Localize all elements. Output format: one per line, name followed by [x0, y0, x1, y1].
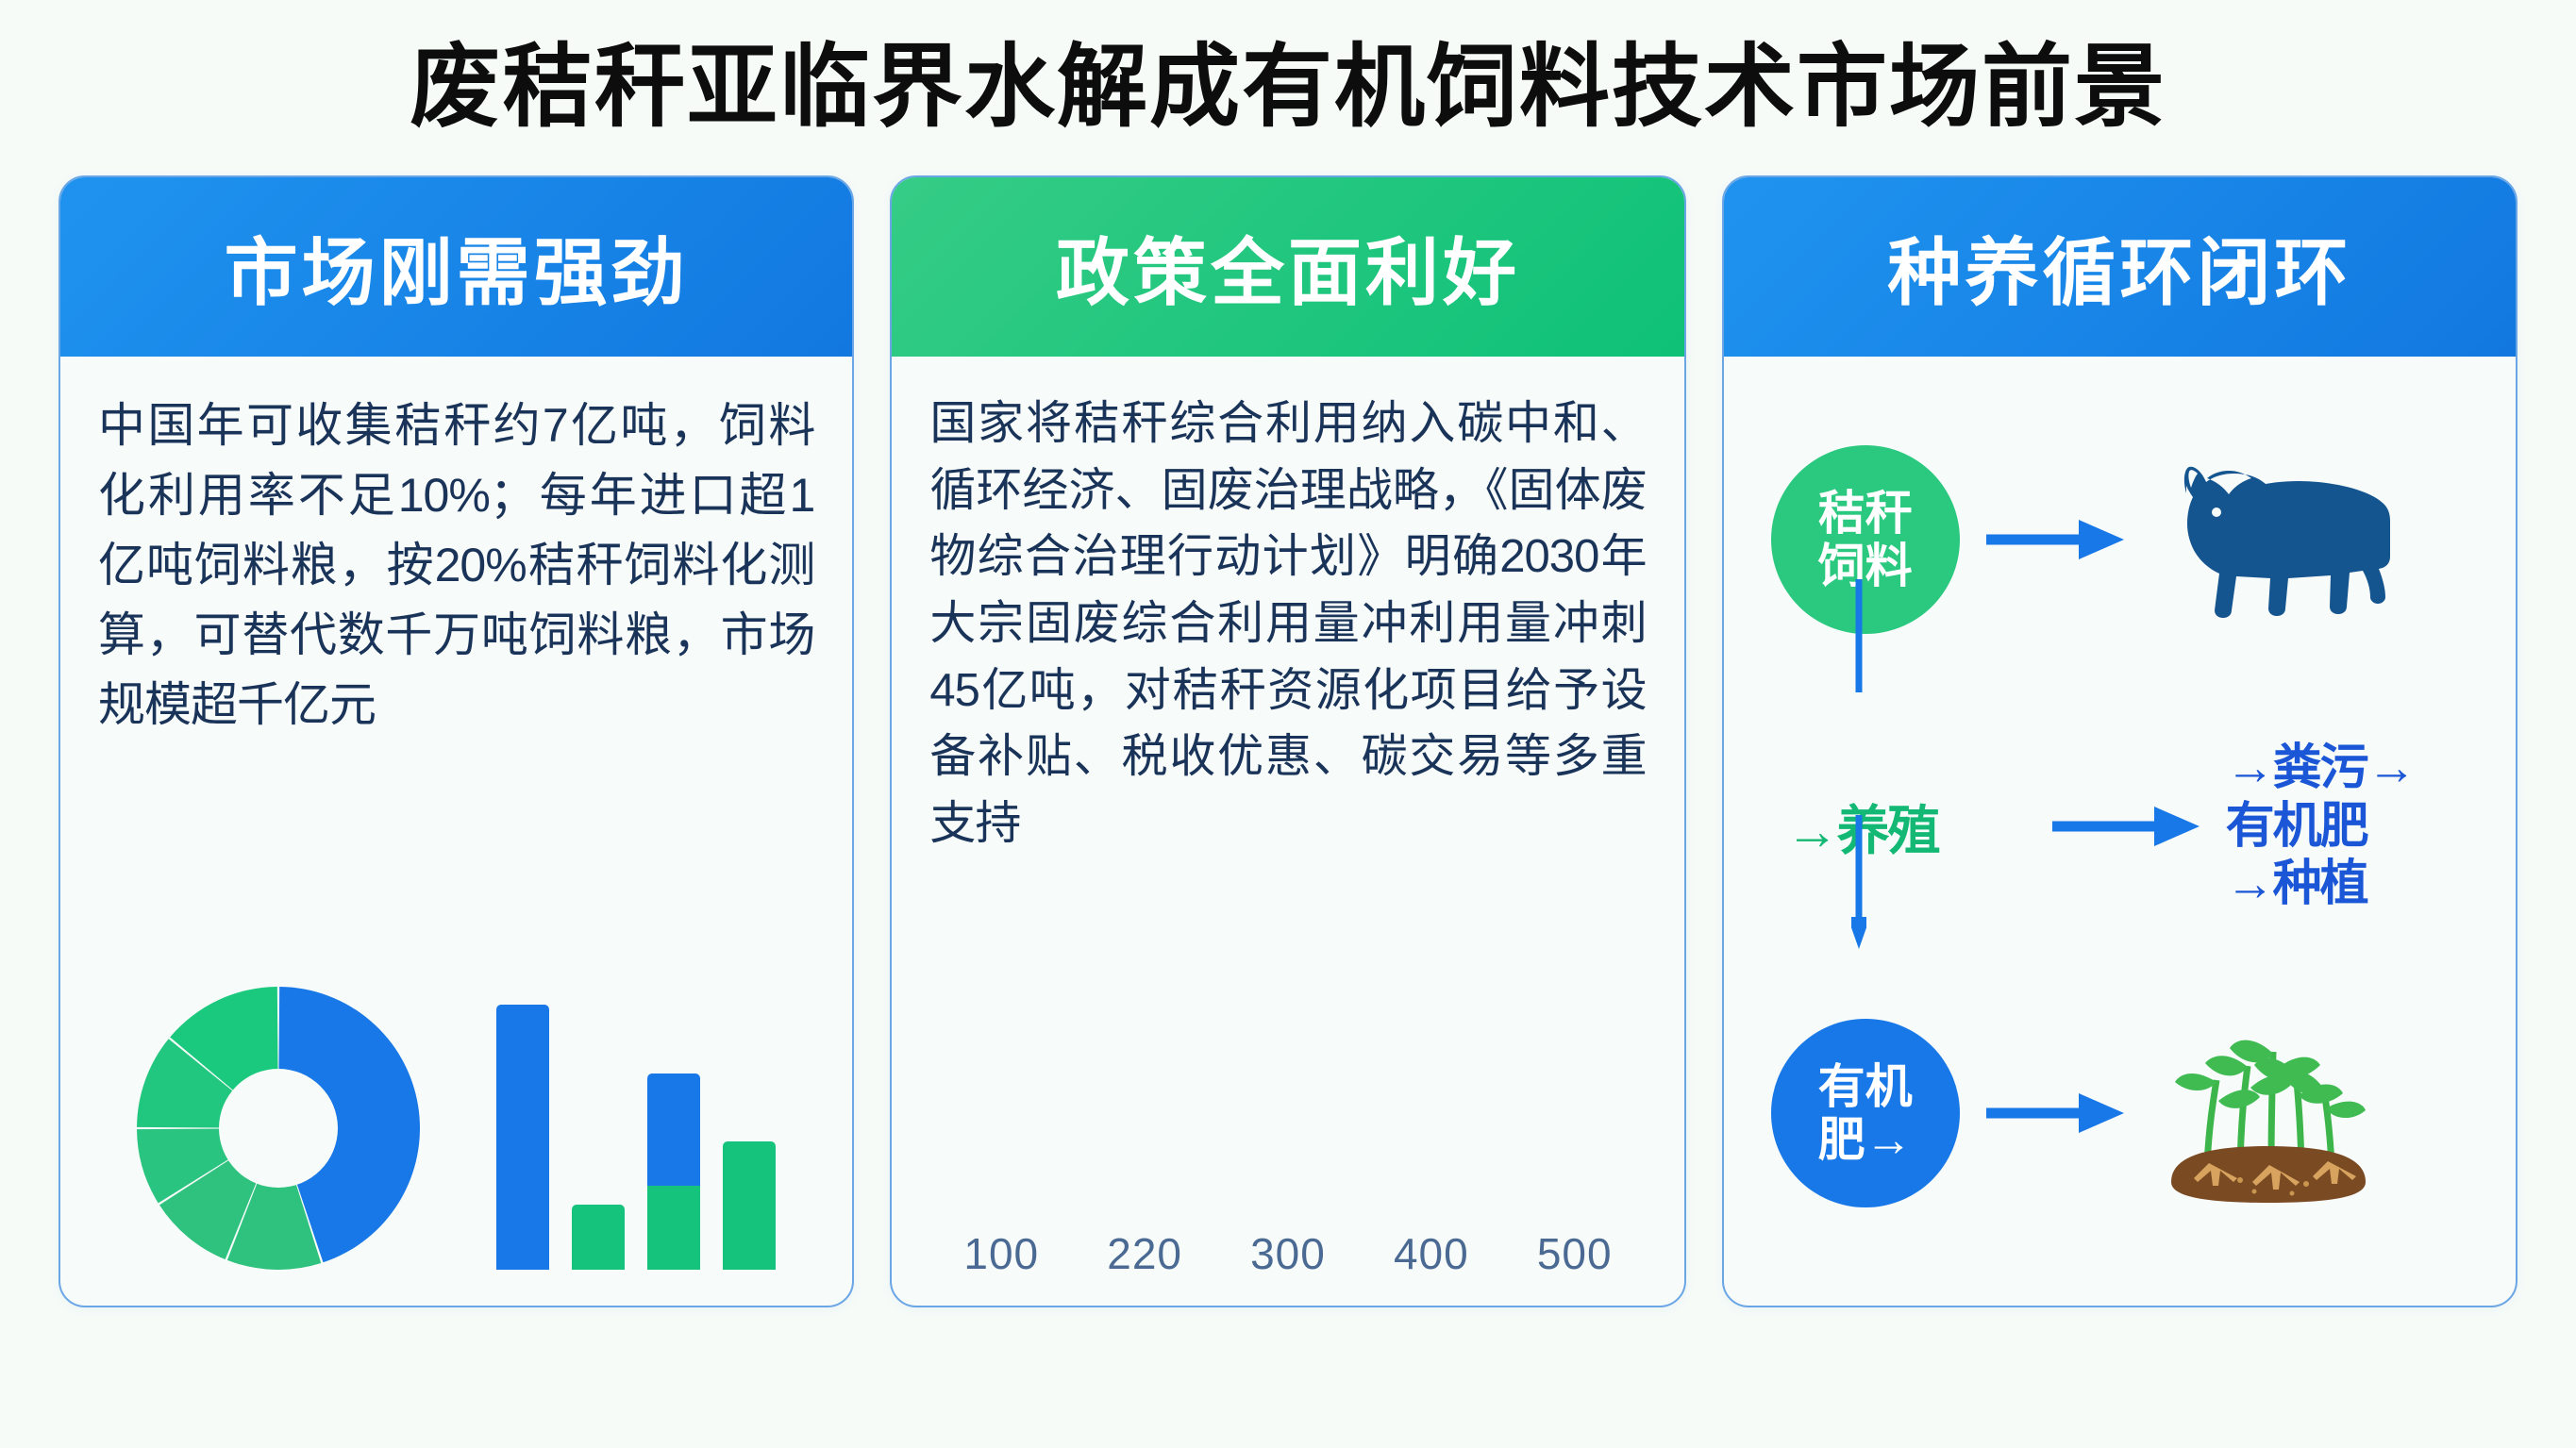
- card-body-policy-support: 国家将秸秆综合利用纳入碳中和、循环经济、固废治理战略，《固体废物综合治理行动计划…: [892, 357, 1683, 1306]
- axis-tick-label: 100: [945, 1228, 1058, 1279]
- bar-column: [647, 1074, 700, 1271]
- policy-growth-plot-area: [929, 970, 1646, 1215]
- axis-tick-label: 500: [1518, 1228, 1631, 1279]
- market-scale-bar-chart: [496, 996, 776, 1270]
- card-header-policy-support: 政策全面利好: [892, 177, 1683, 357]
- label-planting: →种植: [2226, 856, 2415, 913]
- card-market-demand: 市场刚需强劲 中国年可收集秸秆约7亿吨，饲料化利用率不足10%；每年进口超1亿吨…: [59, 175, 854, 1307]
- card-header-closed-loop: 种养循环闭环: [1724, 177, 2516, 357]
- diagram-row-breeding: →养殖 →粪污→ 有机肥 →种植: [1771, 708, 2468, 944]
- arrow-right-icon: [2050, 803, 2201, 850]
- node-straw-feed-line1: 秸秆: [1818, 487, 1913, 540]
- arrow-right-icon: [1984, 1090, 2126, 1137]
- axis-tick-label: 300: [1231, 1228, 1345, 1279]
- node-organic-fertilizer-line2: 肥→: [1818, 1113, 1913, 1166]
- label-organic-fertilizer: 有机肥: [2226, 798, 2415, 856]
- diagram-row-fertilizer: 有机 肥→: [1771, 995, 2468, 1231]
- card-policy-support: 政策全面利好 国家将秸秆综合利用纳入碳中和、循环经济、固废治理战略，《固体废物综…: [890, 175, 1685, 1307]
- policy-support-text: 国家将秸秆综合利用纳入碳中和、循环经济、固废治理战略，《固体废物综合治理行动计划…: [929, 391, 1646, 857]
- diagram-row-feed: 秸秆 饲料: [1771, 422, 2468, 657]
- cards-container: 市场刚需强劲 中国年可收集秸秆约7亿吨，饲料化利用率不足10%；每年进口超1亿吨…: [0, 175, 2576, 1307]
- axis-tick-label: 220: [1088, 1228, 1201, 1279]
- closed-loop-diagram: 秸秆 饲料 →养殖: [1762, 391, 2478, 1285]
- label-manure: →粪污→: [2226, 740, 2415, 797]
- bar-column: [572, 1205, 625, 1271]
- market-demand-text: 中国年可收集秸秆约7亿吨，饲料化利用率不足10%；每年进口超1亿吨饲料粮，按20…: [98, 391, 814, 740]
- vertical-connector: [1851, 579, 1866, 1117]
- card-body-market-demand: 中国年可收集秸秆约7亿吨，饲料化利用率不足10%；每年进口超1亿吨饲料粮，按20…: [60, 357, 852, 1306]
- axis-tick-label: 400: [1375, 1228, 1488, 1279]
- card-header-market-demand: 市场刚需强劲: [60, 177, 852, 357]
- label-manure-fertilizer-planting: →粪污→ 有机肥 →种植: [2226, 740, 2415, 913]
- market-demand-visuals: [98, 974, 814, 1285]
- card-body-closed-loop: 秸秆 饲料 →养殖: [1724, 357, 2516, 1306]
- straw-utilization-donut-chart: [137, 987, 420, 1270]
- arrow-right-icon: [1984, 516, 2126, 563]
- bar-column: [723, 1141, 776, 1270]
- policy-growth-axis-labels: 100220300400500: [929, 1228, 1646, 1279]
- label-breeding: →养殖: [1771, 789, 2026, 865]
- card-closed-loop: 种养循环闭环 秸秆 饲料: [1722, 175, 2517, 1307]
- bar-column: [496, 1005, 549, 1270]
- cow-icon: [2150, 450, 2396, 629]
- crops-icon: [2150, 1014, 2386, 1212]
- page-title: 废秸秆亚临界水解成有机饲料技术市场前景: [0, 0, 2576, 140]
- policy-growth-bar-chart: 100220300400500: [929, 970, 1646, 1285]
